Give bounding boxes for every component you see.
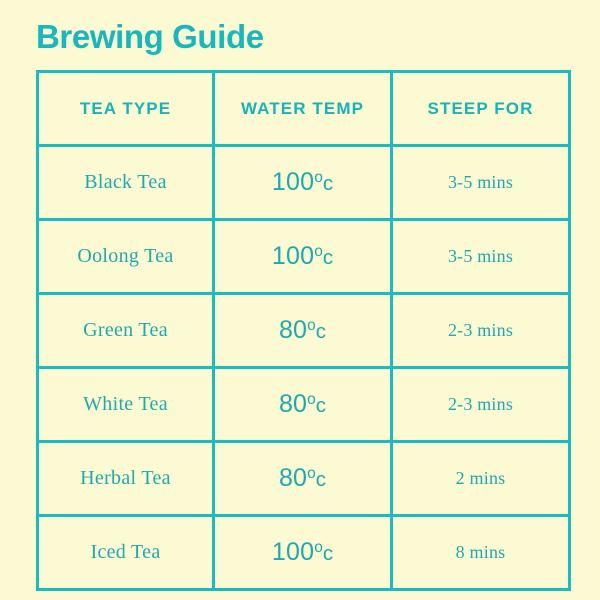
temp-unit: c bbox=[323, 542, 333, 565]
cell-tea-type: Iced Tea bbox=[38, 516, 214, 590]
column-header-tea-type: TEA TYPE bbox=[38, 72, 214, 146]
temp-unit: c bbox=[316, 320, 326, 343]
cell-steep-for: 3-5 mins bbox=[392, 220, 570, 294]
cell-tea-type: White Tea bbox=[38, 368, 214, 442]
table-row: Oolong Tea 100oc 3-5 mins bbox=[38, 220, 570, 294]
cell-water-temp: 100oc bbox=[214, 146, 392, 220]
temp-unit: c bbox=[316, 468, 326, 491]
cell-tea-type: Green Tea bbox=[38, 294, 214, 368]
temp-value: 80 bbox=[279, 390, 307, 418]
cell-water-temp: 80oc bbox=[214, 442, 392, 516]
page-title: Brewing Guide bbox=[36, 18, 264, 56]
brewing-guide-page: Brewing Guide TEA TYPE WATER TEMP STEEP … bbox=[0, 0, 600, 600]
degree-symbol: o bbox=[314, 169, 323, 186]
degree-symbol: o bbox=[307, 391, 316, 408]
temp-value: 100 bbox=[272, 242, 314, 270]
cell-tea-type: Herbal Tea bbox=[38, 442, 214, 516]
column-header-steep-for: STEEP FOR bbox=[392, 72, 570, 146]
temp-unit: c bbox=[316, 394, 326, 417]
cell-steep-for: 2-3 mins bbox=[392, 294, 570, 368]
cell-tea-type: Black Tea bbox=[38, 146, 214, 220]
temp-value: 100 bbox=[272, 538, 314, 566]
temp-unit: c bbox=[323, 172, 333, 195]
temp-value: 80 bbox=[279, 464, 307, 492]
cell-water-temp: 100oc bbox=[214, 220, 392, 294]
column-header-water-temp: WATER TEMP bbox=[214, 72, 392, 146]
cell-steep-for: 2 mins bbox=[392, 442, 570, 516]
degree-symbol: o bbox=[314, 243, 323, 260]
temp-unit: c bbox=[323, 246, 333, 269]
table-row: Green Tea 80oc 2-3 mins bbox=[38, 294, 570, 368]
table-row: White Tea 80oc 2-3 mins bbox=[38, 368, 570, 442]
cell-water-temp: 80oc bbox=[214, 294, 392, 368]
temp-value: 100 bbox=[272, 168, 314, 196]
cell-water-temp: 80oc bbox=[214, 368, 392, 442]
table-header-row: TEA TYPE WATER TEMP STEEP FOR bbox=[38, 72, 570, 146]
table-row: Black Tea 100oc 3-5 mins bbox=[38, 146, 570, 220]
degree-symbol: o bbox=[314, 539, 323, 556]
cell-steep-for: 2-3 mins bbox=[392, 368, 570, 442]
cell-steep-for: 3-5 mins bbox=[392, 146, 570, 220]
cell-water-temp: 100oc bbox=[214, 516, 392, 590]
degree-symbol: o bbox=[307, 317, 316, 334]
table-row: Herbal Tea 80oc 2 mins bbox=[38, 442, 570, 516]
degree-symbol: o bbox=[307, 465, 316, 482]
cell-tea-type: Oolong Tea bbox=[38, 220, 214, 294]
table-row: Iced Tea 100oc 8 mins bbox=[38, 516, 570, 590]
cell-steep-for: 8 mins bbox=[392, 516, 570, 590]
temp-value: 80 bbox=[279, 316, 307, 344]
brewing-guide-table: TEA TYPE WATER TEMP STEEP FOR Black Tea … bbox=[36, 70, 571, 591]
